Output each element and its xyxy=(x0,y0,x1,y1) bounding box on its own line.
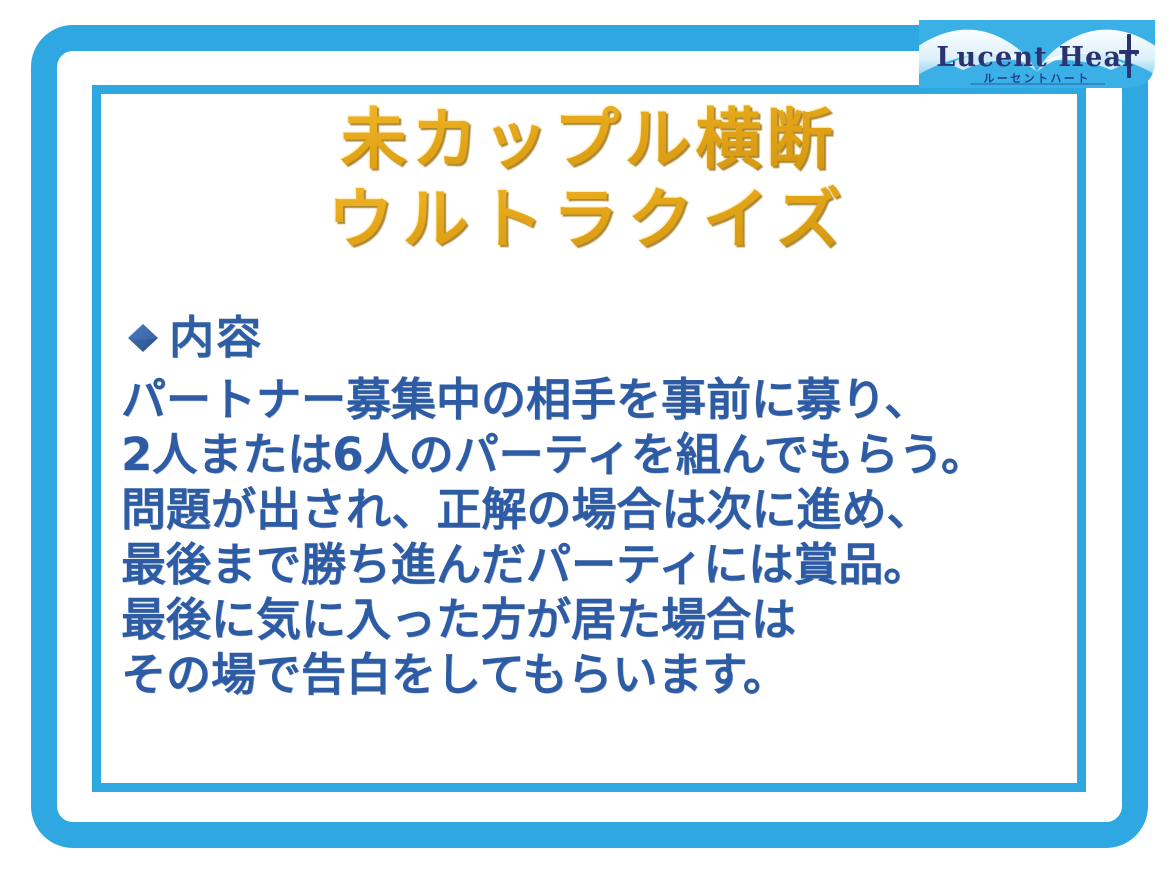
body-line: 最後に気に入った方が居た場合は xyxy=(121,592,1061,647)
title-line-2: ウルトラクイズ xyxy=(101,180,1077,260)
body-line: その場で告白をしてもらいます。 xyxy=(121,647,1061,702)
slide-content: 未カップル横断 ウルトラクイズ 内容 xyxy=(101,94,1077,783)
body-line: 2人または6人のパーティを組んでもらう。 xyxy=(121,427,1061,482)
section-heading: 内容 xyxy=(123,314,263,362)
title-line-1: 未カップル横断 xyxy=(101,100,1077,180)
section-heading-label: 内容 xyxy=(169,314,263,362)
body-line: パートナー募集中の相手を事前に募り、 xyxy=(121,372,1061,427)
lucent-heart-logo: Lucent Hear ルーセントハート xyxy=(919,20,1155,88)
diamond-bullet-icon xyxy=(123,318,163,358)
svg-text:ルーセントハート: ルーセントハート xyxy=(983,72,1090,85)
slide-title: 未カップル横断 ウルトラクイズ xyxy=(101,100,1077,260)
slide-canvas: Lucent Hear ルーセントハート 未カップル横断 ウルトラクイズ xyxy=(0,0,1173,882)
svg-text:Lucent Hear: Lucent Hear xyxy=(936,42,1137,73)
body-line: 問題が出され、正解の場合は次に進め、 xyxy=(121,482,1061,537)
body-line: 最後まで勝ち進んだパーティには賞品。 xyxy=(121,537,1061,592)
body-text-block: パートナー募集中の相手を事前に募り、 2人または6人のパーティを組んでもらう。 … xyxy=(121,372,1061,702)
